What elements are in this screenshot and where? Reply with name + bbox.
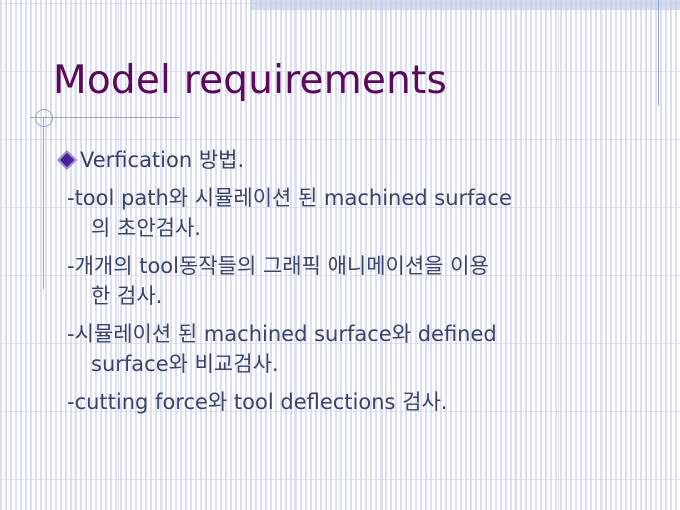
bullet-level2-line2-3: surface와 비교검사.	[67, 349, 660, 379]
bullet-level2-line2-1: 의 초안검사.	[67, 213, 660, 243]
bullet-level2-item-4: -cutting force와 tool deflections 검사.	[60, 387, 660, 417]
presentation-slide: Model requirements Verfication 방법. -tool…	[0, 0, 680, 510]
decoration-circle-icon	[35, 109, 53, 127]
bullet-dash-3: -	[67, 322, 75, 346]
bullet-level2-line1-4: cutting force와 tool deflections 검사.	[75, 390, 448, 414]
bullet-level2-item-2: -개개의 tool동작들의 그래픽 애니메이션을 이용 한 검사.	[60, 251, 660, 311]
bullet-level2-line1-2: 개개의 tool동작들의 그래픽 애니메이션을 이용	[75, 254, 489, 278]
top-accent-band	[250, 0, 680, 10]
bullet-level1: Verfication 방법.	[60, 145, 660, 175]
bullet-level2-line1-3: 시뮬레이션 된 machined surface와 defined	[75, 322, 497, 346]
bullet-dash-1: -	[67, 186, 75, 210]
right-vertical-rule	[658, 0, 659, 105]
bullet-level2-item-3: -시뮬레이션 된 machined surface와 defined surfa…	[60, 319, 660, 379]
diamond-bullet-icon	[57, 150, 77, 170]
bullet-dash-4: -	[67, 390, 75, 414]
bullet-level1-label: Verfication 방법.	[80, 145, 244, 175]
bullet-level2-line2-2: 한 검사.	[67, 281, 660, 311]
slide-body: Verfication 방법. -tool path와 시뮬레이션 된 mach…	[60, 145, 660, 417]
bullet-level2-line1-1: tool path와 시뮬레이션 된 machined surface	[75, 186, 512, 210]
left-vertical-decoration	[43, 117, 44, 289]
bullet-dash-2: -	[67, 254, 75, 278]
slide-title: Model requirements	[53, 57, 447, 105]
bullet-level2-item-1: -tool path와 시뮬레이션 된 machined surface 의 초…	[60, 183, 660, 243]
